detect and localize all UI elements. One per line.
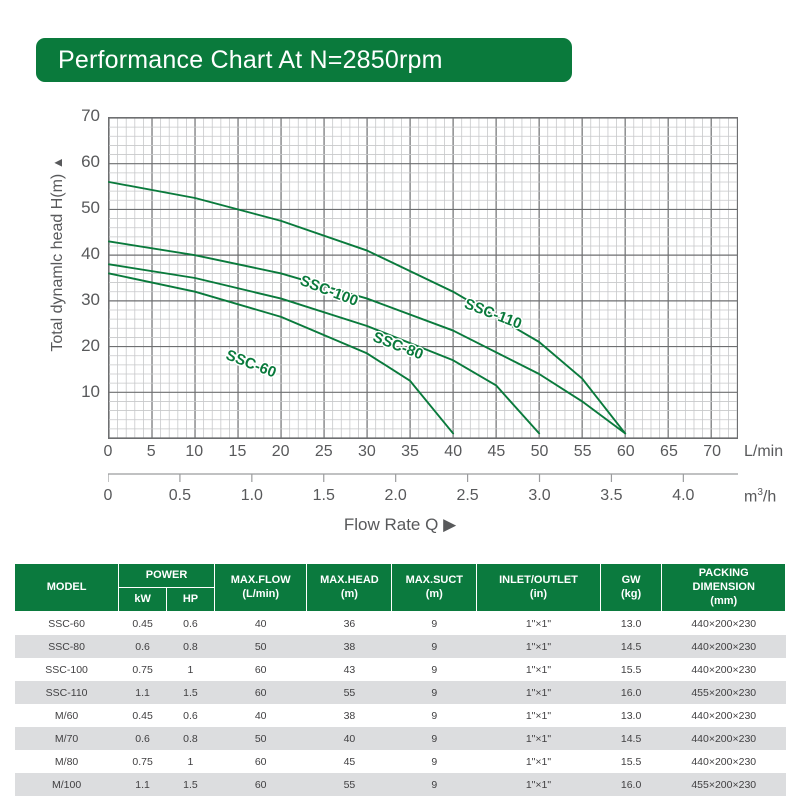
th-gw-label: GW bbox=[622, 574, 641, 586]
x-tick-lmin-70: 70 bbox=[703, 443, 721, 461]
th-max-head: MAX.HEAD (m) bbox=[307, 564, 392, 612]
table-row: M/700.60.8504091"×1"14.5440×200×230 bbox=[15, 727, 786, 750]
x-tick-lmin-20: 20 bbox=[272, 443, 290, 461]
cell-kw: 0.75 bbox=[119, 750, 167, 773]
cell-model: SSC-60 bbox=[15, 612, 119, 636]
x-tick-lmin-0: 0 bbox=[104, 443, 113, 461]
th-max-flow-unit: (L/min) bbox=[242, 588, 279, 600]
cell-kw: 0.6 bbox=[119, 727, 167, 750]
x-tick-lmin-45: 45 bbox=[487, 443, 505, 461]
cell-max-suct: 9 bbox=[392, 704, 477, 727]
th-model: MODEL bbox=[15, 564, 119, 612]
cell-max-head: 38 bbox=[307, 704, 392, 727]
x-tick-m3h-0: 0 bbox=[104, 487, 113, 505]
cell-kw: 1.1 bbox=[119, 773, 167, 796]
cell-gw: 16.0 bbox=[600, 773, 662, 796]
x-tick-m3h-2.0: 2.0 bbox=[385, 487, 407, 505]
y-axis-title-text: Total dynamlc head H(m) bbox=[49, 174, 66, 352]
cell-packing: 440×200×230 bbox=[662, 704, 786, 727]
cell-inlet-outlet: 1"×1" bbox=[477, 750, 600, 773]
page-title: Performance Chart At N=2850rpm bbox=[36, 46, 443, 75]
x-tick-lmin-55: 55 bbox=[574, 443, 592, 461]
cell-kw: 1.1 bbox=[119, 681, 167, 704]
cell-max-suct: 9 bbox=[392, 612, 477, 636]
th-packing-dimension: PACKING DIMENSION (mm) bbox=[662, 564, 786, 612]
table-body: SSC-600.450.6403691"×1"13.0440×200×230SS… bbox=[15, 612, 786, 796]
x-tick-m3h-1.5: 1.5 bbox=[313, 487, 335, 505]
cell-kw: 0.45 bbox=[119, 612, 167, 636]
cell-max-flow: 50 bbox=[214, 727, 307, 750]
table-row: M/800.751604591"×1"15.5440×200×230 bbox=[15, 750, 786, 773]
cell-packing: 440×200×230 bbox=[662, 658, 786, 681]
cell-packing: 440×200×230 bbox=[662, 612, 786, 636]
cell-max-suct: 9 bbox=[392, 681, 477, 704]
cell-max-suct: 9 bbox=[392, 773, 477, 796]
cell-model: M/60 bbox=[15, 704, 119, 727]
cell-max-flow: 40 bbox=[214, 612, 307, 636]
cell-max-head: 43 bbox=[307, 658, 392, 681]
th-max-suct-unit: (m) bbox=[426, 588, 443, 600]
x-axis-unit-lmin: L/min bbox=[744, 443, 783, 461]
x-axis-title: Flow Rate Q ▶ bbox=[0, 515, 800, 535]
th-max-suct: MAX.SUCT (m) bbox=[392, 564, 477, 612]
x-tick-m3h-4.0: 4.0 bbox=[672, 487, 694, 505]
chart-curves bbox=[109, 118, 737, 438]
x-axis-unit-m3h: m3/h bbox=[744, 487, 776, 506]
cell-model: M/100 bbox=[15, 773, 119, 796]
cell-max-flow: 50 bbox=[214, 635, 307, 658]
th-packing-line2: DIMENSION bbox=[693, 581, 755, 593]
th-max-head-label: MAX.HEAD bbox=[320, 574, 379, 586]
th-max-flow: MAX.FLOW (L/min) bbox=[214, 564, 307, 612]
cell-max-suct: 9 bbox=[392, 727, 477, 750]
x-tick-lmin-30: 30 bbox=[358, 443, 376, 461]
cell-hp: 1 bbox=[167, 658, 215, 681]
cell-gw: 14.5 bbox=[600, 635, 662, 658]
table-row: SSC-800.60.8503891"×1"14.5440×200×230 bbox=[15, 635, 786, 658]
table-header: MODEL POWER MAX.FLOW (L/min) MAX.HEAD (m… bbox=[15, 564, 786, 612]
th-max-head-unit: (m) bbox=[341, 588, 358, 600]
cell-inlet-outlet: 1"×1" bbox=[477, 635, 600, 658]
cell-model: SSC-100 bbox=[15, 658, 119, 681]
th-hp: HP bbox=[167, 588, 215, 612]
x-tick-m3h-1.0: 1.0 bbox=[241, 487, 263, 505]
cell-max-flow: 60 bbox=[214, 773, 307, 796]
cell-max-suct: 9 bbox=[392, 658, 477, 681]
table-row: SSC-600.450.6403691"×1"13.0440×200×230 bbox=[15, 612, 786, 636]
cell-gw: 13.0 bbox=[600, 704, 662, 727]
cell-model: M/80 bbox=[15, 750, 119, 773]
cell-gw: 16.0 bbox=[600, 681, 662, 704]
x-tick-lmin-10: 10 bbox=[185, 443, 203, 461]
cell-gw: 14.5 bbox=[600, 727, 662, 750]
x-tick-m3h-2.5: 2.5 bbox=[456, 487, 478, 505]
cell-gw: 15.5 bbox=[600, 750, 662, 773]
cell-max-head: 40 bbox=[307, 727, 392, 750]
cell-max-head: 38 bbox=[307, 635, 392, 658]
cell-max-head: 55 bbox=[307, 681, 392, 704]
x-tick-lmin-25: 25 bbox=[315, 443, 333, 461]
th-kw: kW bbox=[119, 588, 167, 612]
cell-inlet-outlet: 1"×1" bbox=[477, 704, 600, 727]
cell-inlet-outlet: 1"×1" bbox=[477, 681, 600, 704]
x-tick-lmin-65: 65 bbox=[660, 443, 678, 461]
cell-packing: 440×200×230 bbox=[662, 727, 786, 750]
x-axis-title-text: Flow Rate Q bbox=[344, 515, 438, 534]
table-row: M/600.450.6403891"×1"13.0440×200×230 bbox=[15, 704, 786, 727]
cell-inlet-outlet: 1"×1" bbox=[477, 658, 600, 681]
cell-packing: 455×200×230 bbox=[662, 773, 786, 796]
x-tick-lmin-60: 60 bbox=[617, 443, 635, 461]
th-max-suct-label: MAX.SUCT bbox=[406, 574, 463, 586]
th-power: POWER bbox=[119, 564, 215, 588]
plot-area: SSC-110SSC-100SSC-80SSC-60 bbox=[108, 117, 738, 439]
cell-kw: 0.6 bbox=[119, 635, 167, 658]
cell-max-flow: 60 bbox=[214, 658, 307, 681]
x-tick-lmin-15: 15 bbox=[229, 443, 247, 461]
cell-max-head: 45 bbox=[307, 750, 392, 773]
cell-hp: 0.8 bbox=[167, 727, 215, 750]
x-tick-lmin-5: 5 bbox=[147, 443, 156, 461]
th-gw: GW (kg) bbox=[600, 564, 662, 612]
y-axis-title: Total dynamlc head H(m) ▲ bbox=[49, 104, 67, 404]
cell-hp: 0.8 bbox=[167, 635, 215, 658]
th-packing-unit: (mm) bbox=[710, 595, 737, 607]
th-max-flow-label: MAX.FLOW bbox=[231, 574, 291, 586]
cell-max-head: 36 bbox=[307, 612, 392, 636]
cell-hp: 1 bbox=[167, 750, 215, 773]
cell-gw: 15.5 bbox=[600, 658, 662, 681]
table-row: SSC-1000.751604391"×1"15.5440×200×230 bbox=[15, 658, 786, 681]
cell-inlet-outlet: 1"×1" bbox=[477, 727, 600, 750]
cell-model: M/70 bbox=[15, 727, 119, 750]
x-tick-lmin-50: 50 bbox=[531, 443, 549, 461]
cell-max-flow: 60 bbox=[214, 750, 307, 773]
specification-table: MODEL POWER MAX.FLOW (L/min) MAX.HEAD (m… bbox=[14, 563, 786, 796]
cell-max-flow: 40 bbox=[214, 704, 307, 727]
th-packing-line1: PACKING bbox=[699, 567, 749, 579]
cell-hp: 0.6 bbox=[167, 704, 215, 727]
x-tick-m3h-3.0: 3.0 bbox=[528, 487, 550, 505]
table-row: M/1001.11.5605591"×1"16.0455×200×230 bbox=[15, 773, 786, 796]
x-tick-m3h-0.5: 0.5 bbox=[169, 487, 191, 505]
th-gw-unit: (kg) bbox=[621, 588, 641, 600]
cell-max-suct: 9 bbox=[392, 635, 477, 658]
table-header-row-1: MODEL POWER MAX.FLOW (L/min) MAX.HEAD (m… bbox=[15, 564, 786, 588]
table-row: SSC-1101.11.5605591"×1"16.0455×200×230 bbox=[15, 681, 786, 704]
cell-inlet-outlet: 1"×1" bbox=[477, 773, 600, 796]
chart-title-banner: Performance Chart At N=2850rpm bbox=[36, 38, 572, 82]
secondary-axis-line bbox=[108, 473, 738, 484]
cell-kw: 0.45 bbox=[119, 704, 167, 727]
up-arrow-icon: ▲ bbox=[50, 156, 65, 169]
x-axis-ticks-m3h: 00.51.01.52.02.53.03.54.0 bbox=[108, 487, 738, 511]
th-inlet-outlet: INLET/OUTLET (in) bbox=[477, 564, 600, 612]
cell-hp: 1.5 bbox=[167, 773, 215, 796]
x-tick-lmin-35: 35 bbox=[401, 443, 419, 461]
cell-packing: 455×200×230 bbox=[662, 681, 786, 704]
right-arrow-icon: ▶ bbox=[443, 515, 456, 534]
cell-max-suct: 9 bbox=[392, 750, 477, 773]
cell-model: SSC-80 bbox=[15, 635, 119, 658]
cell-inlet-outlet: 1"×1" bbox=[477, 612, 600, 636]
cell-hp: 0.6 bbox=[167, 612, 215, 636]
performance-chart: 10203040506070 Total dynamlc head H(m) ▲… bbox=[0, 95, 800, 555]
cell-max-head: 55 bbox=[307, 773, 392, 796]
cell-packing: 440×200×230 bbox=[662, 635, 786, 658]
x-tick-m3h-3.5: 3.5 bbox=[600, 487, 622, 505]
cell-kw: 0.75 bbox=[119, 658, 167, 681]
cell-model: SSC-110 bbox=[15, 681, 119, 704]
th-inlet-outlet-unit: (in) bbox=[530, 588, 547, 600]
cell-max-flow: 60 bbox=[214, 681, 307, 704]
x-tick-lmin-40: 40 bbox=[444, 443, 462, 461]
cell-packing: 440×200×230 bbox=[662, 750, 786, 773]
x-axis-ticks-lmin: 0510152025303540455055606570 bbox=[108, 443, 738, 467]
cell-hp: 1.5 bbox=[167, 681, 215, 704]
th-inlet-outlet-label: INLET/OUTLET bbox=[499, 574, 578, 586]
cell-gw: 13.0 bbox=[600, 612, 662, 636]
